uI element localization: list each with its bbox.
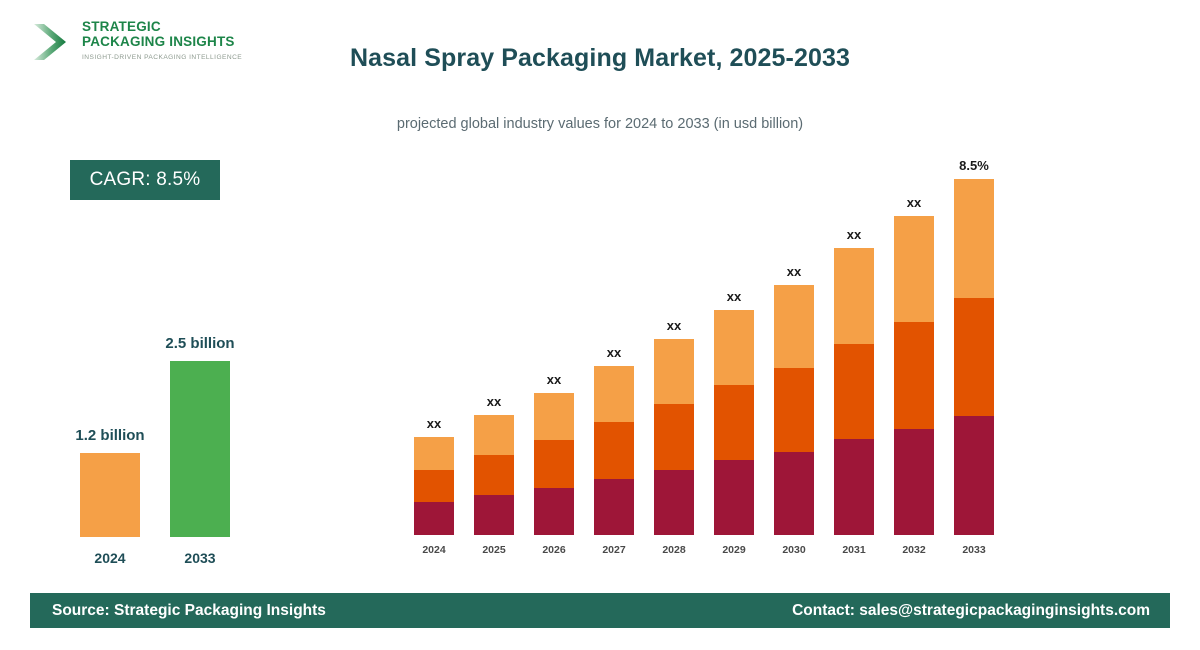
endpoint-comparison-chart: 1.2 billion20242.5 billion2033: [60, 320, 260, 570]
stacked-bar-segment: [594, 366, 634, 422]
stacked-bar-segment: [894, 322, 934, 428]
stacked-bar-segment: [534, 393, 574, 440]
stacked-bar-value-label: xx: [408, 416, 460, 431]
infographic-canvas: STRATEGIC PACKAGING INSIGHTS INSIGHT-DRI…: [0, 0, 1200, 650]
stacked-bar-value-label: xx: [768, 264, 820, 279]
stacked-bar-segment: [714, 460, 754, 535]
page-subtitle: projected global industry values for 202…: [200, 116, 1000, 132]
stacked-bar-segment: [534, 440, 574, 487]
stacked-bar-segment: [654, 339, 694, 404]
stacked-bar-year-label: 2030: [768, 544, 820, 556]
stacked-bar-group: xx2029: [708, 225, 760, 560]
stacked-bar-year-label: 2028: [648, 544, 700, 556]
footer-contact-label: Contact: sales@strategicpackaginginsight…: [792, 593, 1150, 628]
stacked-bar-segment: [774, 452, 814, 535]
cagr-badge-label: CAGR: 8.5%: [90, 169, 201, 191]
stacked-bar-group: 8.5%2033: [948, 225, 1000, 560]
stacked-bar-group: xx2024: [408, 225, 460, 560]
cagr-badge: CAGR: 8.5%: [70, 160, 220, 200]
stacked-bar-segment: [834, 439, 874, 535]
stacked-bar-year-label: 2033: [948, 544, 1000, 556]
stacked-bar-segment: [654, 404, 694, 469]
stacked-bar-value-label: xx: [888, 195, 940, 210]
comparison-bar-year: 2024: [70, 550, 150, 566]
stacked-bar-year-label: 2032: [888, 544, 940, 556]
stacked-bar-group: xx2027: [588, 225, 640, 560]
stacked-bar-value-label: xx: [588, 345, 640, 360]
stacked-bar-group: xx2032: [888, 225, 940, 560]
stacked-bar-value-label: 8.5%: [948, 158, 1000, 173]
stacked-bar-segment: [834, 248, 874, 344]
stacked-bar-segment: [774, 368, 814, 451]
stacked-bar: [414, 437, 454, 535]
stacked-bar-year-label: 2031: [828, 544, 880, 556]
stacked-bar-segment: [654, 470, 694, 535]
footer-bar: Source: Strategic Packaging Insights Con…: [30, 593, 1170, 628]
stacked-bar: [654, 339, 694, 535]
stacked-bar-segment: [954, 298, 994, 417]
stacked-bar-segment: [474, 455, 514, 495]
stacked-bar: [834, 248, 874, 535]
stacked-bar-year-label: 2024: [408, 544, 460, 556]
stacked-bar-segment: [594, 422, 634, 478]
stacked-bar-year-label: 2026: [528, 544, 580, 556]
stacked-bar-year-label: 2029: [708, 544, 760, 556]
comparison-bar: [80, 453, 140, 537]
stacked-bar-value-label: xx: [708, 289, 760, 304]
segmented-forecast-chart: xx2024xx2025xx2026xx2027xx2028xx2029xx20…: [400, 200, 1040, 560]
chevron-right-icon: [30, 18, 78, 66]
stacked-bar-value-label: xx: [828, 227, 880, 242]
comparison-bar-year: 2033: [160, 550, 240, 566]
stacked-bar-group: xx2030: [768, 225, 820, 560]
comparison-bar: [170, 361, 230, 537]
stacked-bar-segment: [714, 310, 754, 385]
stacked-bar-segment: [834, 344, 874, 440]
comparison-bar-value: 1.2 billion: [60, 427, 160, 444]
page-title: Nasal Spray Packaging Market, 2025-2033: [200, 44, 1000, 73]
stacked-bar: [714, 310, 754, 535]
stacked-bar: [774, 285, 814, 535]
stacked-bar-segment: [414, 470, 454, 503]
stacked-bar-segment: [894, 429, 934, 535]
stacked-bar: [474, 415, 514, 535]
stacked-bar-segment: [414, 502, 454, 535]
stacked-bar-segment: [474, 495, 514, 535]
logo-line-1: STRATEGIC: [82, 20, 252, 35]
stacked-bar-group: xx2025: [468, 225, 520, 560]
stacked-bar-segment: [954, 179, 994, 298]
stacked-bar: [894, 216, 934, 535]
stacked-bar-group: xx2026: [528, 225, 580, 560]
stacked-bar-segment: [534, 488, 574, 535]
stacked-bar: [954, 179, 994, 535]
stacked-bar-segment: [774, 285, 814, 368]
stacked-bar: [534, 393, 574, 535]
stacked-bar: [594, 366, 634, 535]
stacked-bar-group: xx2028: [648, 225, 700, 560]
stacked-bar-value-label: xx: [528, 372, 580, 387]
stacked-bar-segment: [954, 416, 994, 535]
stacked-bar-year-label: 2025: [468, 544, 520, 556]
stacked-bar-segment: [414, 437, 454, 470]
stacked-bar-segment: [474, 415, 514, 455]
stacked-bar-value-label: xx: [468, 394, 520, 409]
stacked-bar-value-label: xx: [648, 318, 700, 333]
stacked-bar-year-label: 2027: [588, 544, 640, 556]
stacked-bar-group: xx2031: [828, 225, 880, 560]
footer-source-label: Source: Strategic Packaging Insights: [52, 593, 326, 628]
stacked-bar-segment: [594, 479, 634, 535]
comparison-bar-value: 2.5 billion: [150, 335, 250, 352]
stacked-bar-segment: [894, 216, 934, 322]
stacked-bar-segment: [714, 385, 754, 460]
